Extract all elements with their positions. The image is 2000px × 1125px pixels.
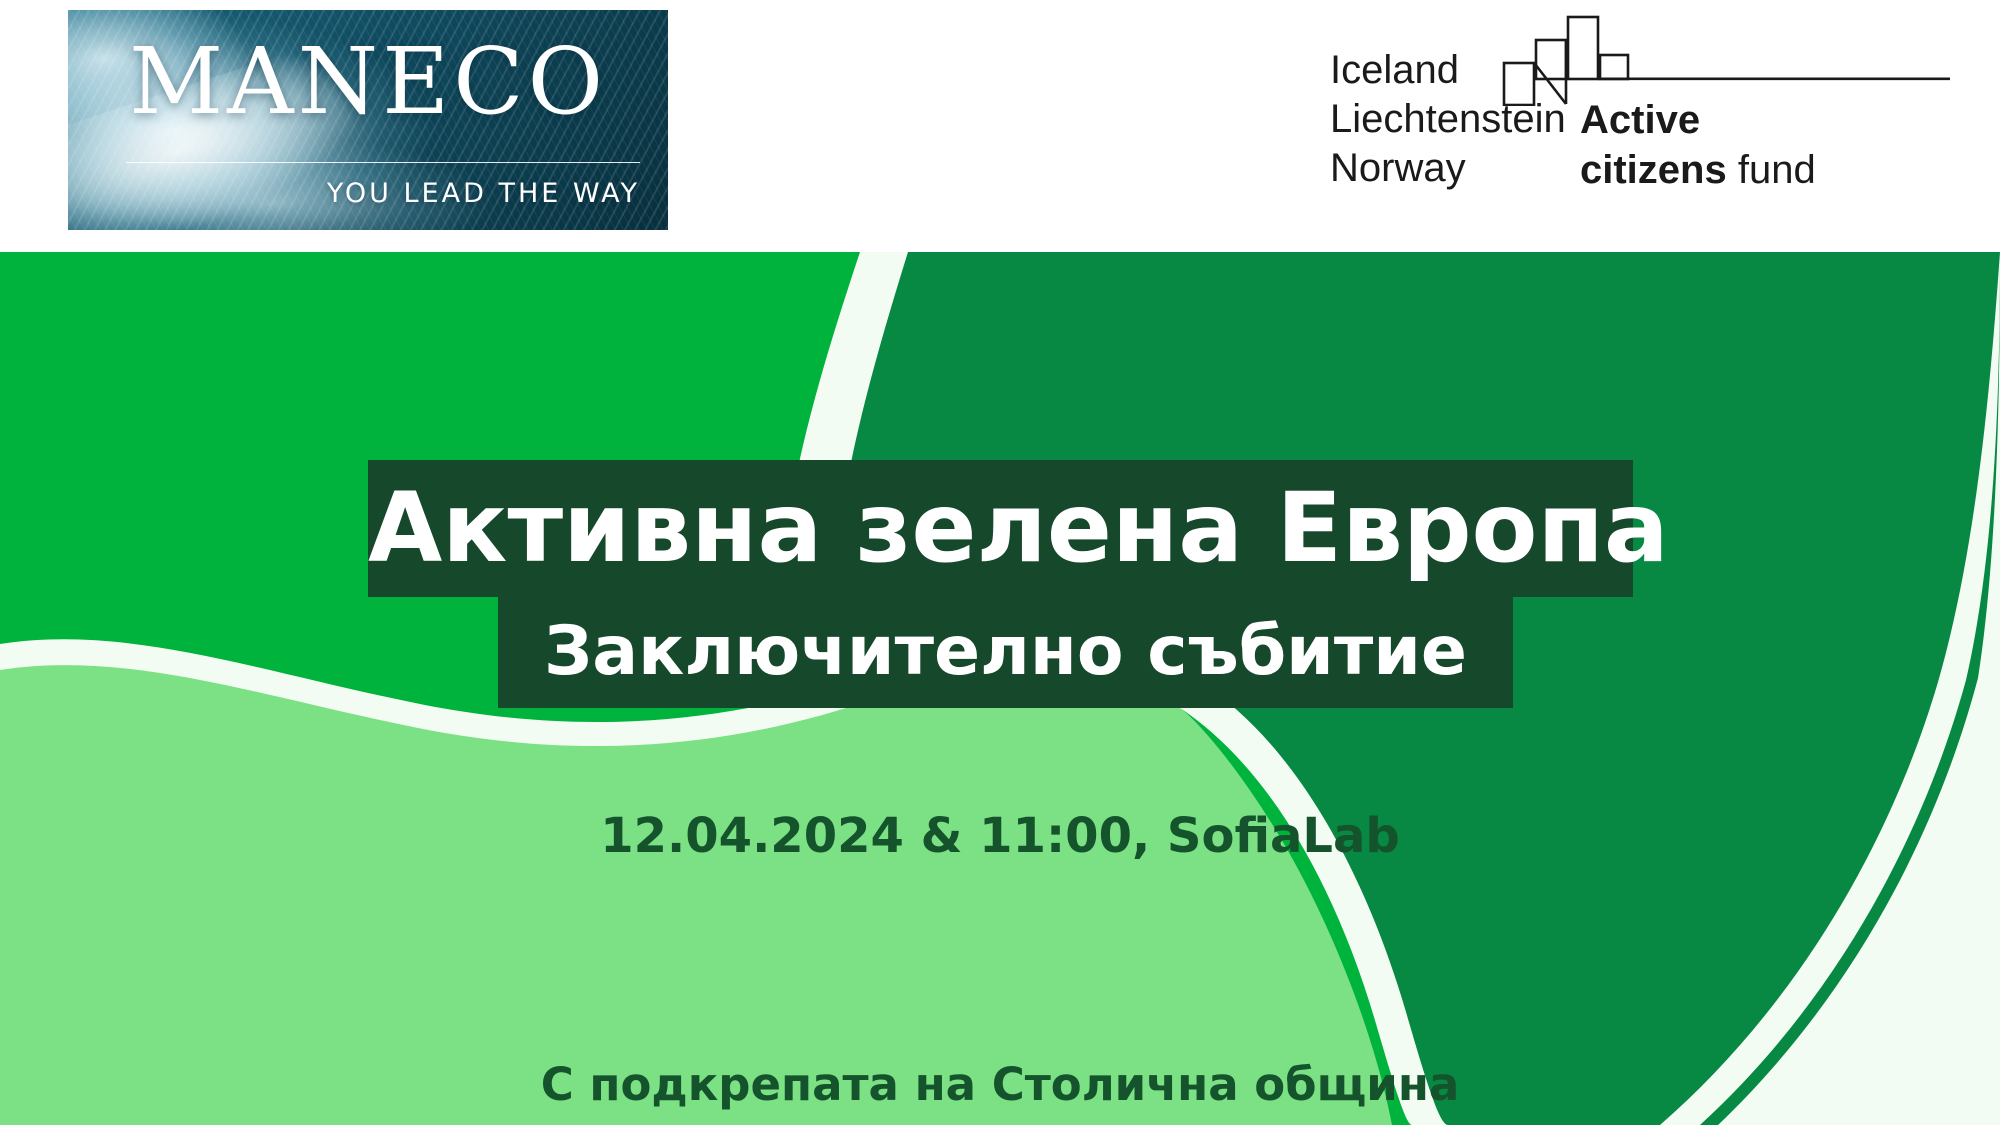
acf-line1: Active: [1580, 98, 1700, 142]
acf-line2-thin: fund: [1727, 148, 1816, 192]
eea-country-norway: Norway: [1330, 144, 1566, 193]
eea-bars-mark-icon: [1502, 14, 1962, 106]
support-note: С подкрепата на Столична община: [0, 1058, 2000, 1111]
maneco-logo: MANECO YOU LEAD THE WAY: [68, 10, 668, 230]
page-subtitle: Заключително събитие: [498, 599, 1513, 705]
active-citizens-fund-text: Active citizens fund: [1580, 95, 1816, 195]
event-poster: MANECO YOU LEAD THE WAY Iceland Liechten…: [0, 0, 2000, 1125]
maneco-wordmark: MANECO: [68, 36, 668, 128]
event-details: 12.04.2024 & 11:00, SofiaLab: [0, 808, 2000, 864]
acf-line2-bold: citizens: [1580, 148, 1727, 192]
subtitle-banner: Заключително събитие: [498, 597, 1513, 708]
eea-grants-logo: Iceland Liechtenstein Norway Active citi…: [1330, 20, 1970, 200]
maneco-tagline: YOU LEAD THE WAY: [327, 178, 640, 209]
page-title: Активна зелена Европа: [368, 466, 1633, 590]
header-band: MANECO YOU LEAD THE WAY Iceland Liechten…: [0, 0, 2000, 252]
title-banner: Активна зелена Европа: [368, 460, 1633, 597]
maneco-divider-rule: [126, 162, 640, 163]
